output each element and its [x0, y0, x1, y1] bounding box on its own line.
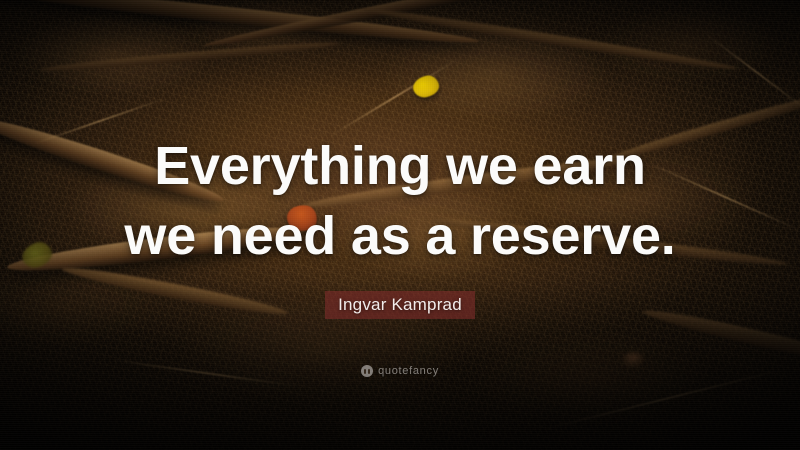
yellow-leaf: [411, 74, 441, 100]
root-branch: [0, 110, 227, 209]
root-branch: [61, 262, 289, 320]
root-branch: [40, 39, 340, 74]
background-roots-layer: [0, 0, 800, 450]
twig: [702, 31, 800, 111]
quote-card: Everything we earn we need as a reserve.…: [0, 0, 800, 450]
root-branch: [431, 214, 790, 270]
twig: [543, 368, 786, 430]
twig: [111, 359, 299, 387]
root-branch: [641, 304, 800, 370]
twig: [647, 162, 800, 233]
root-branch: [603, 86, 800, 165]
twig: [330, 58, 460, 137]
twig: [33, 97, 166, 144]
leaf-highlight: [622, 352, 644, 367]
root-branch: [301, 153, 630, 213]
